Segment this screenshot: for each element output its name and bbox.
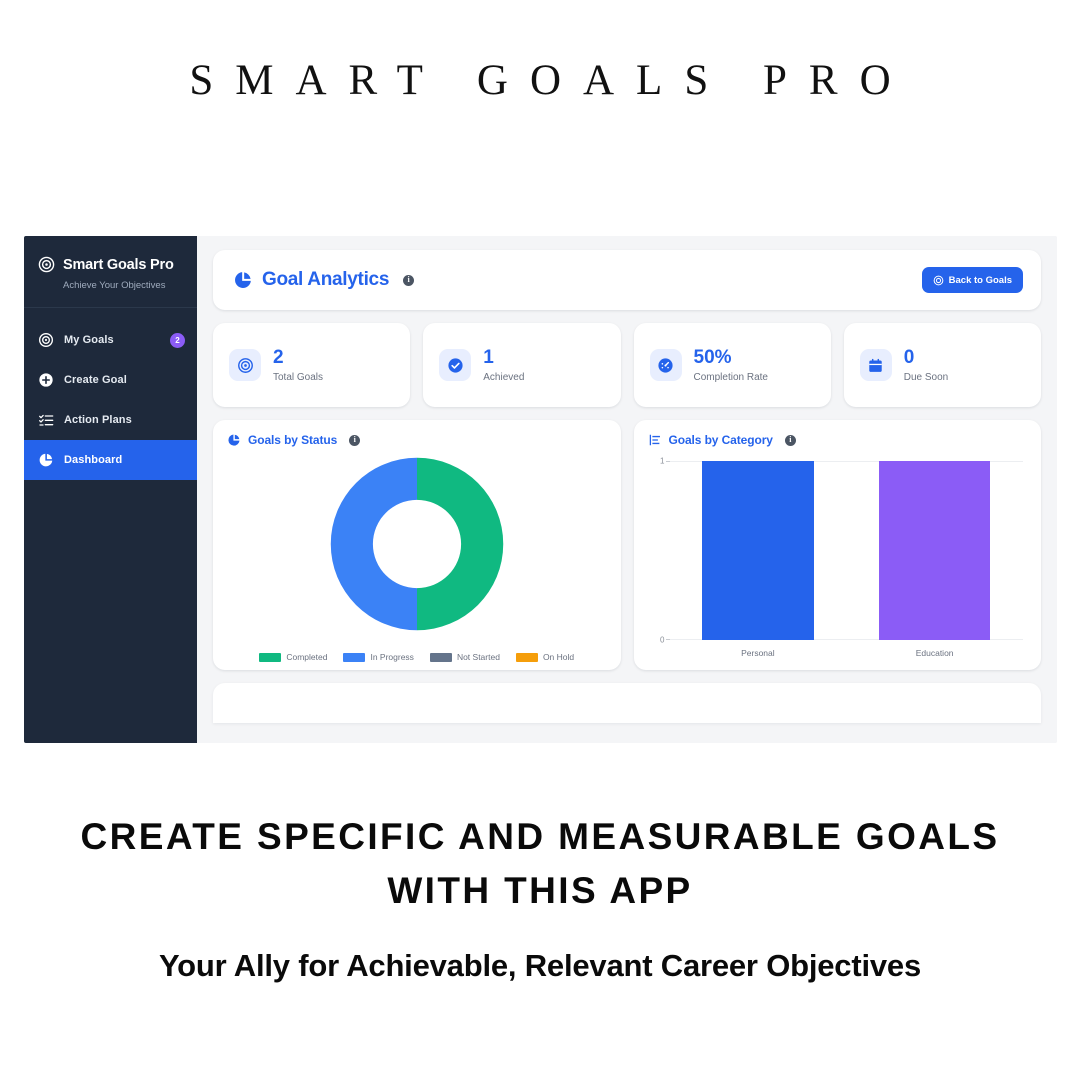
target-icon — [933, 275, 944, 286]
legend-label: Not Started — [457, 652, 500, 662]
donut-wrap — [227, 451, 607, 636]
stat-icon-wrap — [650, 349, 682, 381]
target-icon — [237, 357, 254, 374]
chart-legend: Completed In Progress Not Started — [227, 652, 607, 662]
stat-icon-wrap — [439, 349, 471, 381]
next-card-partial — [213, 683, 1041, 723]
y-tick-label: 1 — [660, 457, 664, 466]
sidebar-header: Smart Goals Pro Achieve Your Objectives — [24, 236, 197, 308]
x-axis-label: Education — [879, 648, 990, 658]
stat-value: 1 — [483, 348, 524, 367]
stat-card-achieved: 1 Achieved — [423, 323, 620, 407]
sidebar-item-label: Create Goal — [64, 374, 127, 386]
sidebar-item-label: Dashboard — [64, 454, 122, 466]
donut-chart[interactable] — [319, 446, 515, 642]
legend-swatch — [259, 653, 281, 662]
analytics-header-card: Goal Analytics i Back to Goals — [213, 250, 1041, 310]
chart-header: Goals by Category i — [648, 433, 1028, 447]
stat-card-completion-rate: 50% Completion Rate — [634, 323, 831, 407]
legend-label: In Progress — [370, 652, 413, 662]
stat-value: 0 — [904, 348, 948, 367]
promo-page: SMART GOALS PRO Smart Goals Pro Achieve … — [0, 0, 1080, 1080]
chart-card-goals-by-category: Goals by Category i 1 0 — [634, 420, 1042, 670]
sidebar-item-create-goal[interactable]: Create Goal — [24, 360, 197, 400]
sidebar-badge-count: 2 — [170, 333, 185, 348]
main-content: Goal Analytics i Back to Goals — [197, 236, 1057, 743]
y-tick-label: 0 — [660, 636, 664, 645]
bars-plot: 1 0 — [670, 461, 1024, 640]
bar-column-education — [879, 461, 990, 640]
sidebar-item-label: My Goals — [64, 334, 114, 346]
stat-value: 50% — [694, 348, 768, 367]
legend-item-not-started[interactable]: Not Started — [430, 652, 500, 662]
promo-subline: Your Ally for Achievable, Relevant Caree… — [90, 945, 990, 987]
legend-swatch — [343, 653, 365, 662]
sidebar-nav: My Goals 2 Create Goal Action Plans — [24, 308, 197, 480]
x-axis-label: Personal — [702, 648, 813, 658]
bar-chart-icon — [648, 433, 662, 447]
charts-row: Goals by Status i — [213, 420, 1041, 670]
app-screenshot: Smart Goals Pro Achieve Your Objectives … — [24, 236, 1057, 743]
target-icon — [38, 256, 55, 273]
stat-label: Achieved — [483, 372, 524, 383]
sidebar: Smart Goals Pro Achieve Your Objectives … — [24, 236, 197, 743]
bar-education[interactable] — [879, 461, 990, 640]
stat-icon-wrap — [860, 349, 892, 381]
info-icon[interactable]: i — [403, 275, 414, 286]
legend-item-completed[interactable]: Completed — [259, 652, 327, 662]
donut-slice-completed[interactable] — [417, 457, 503, 629]
legend-item-on-hold[interactable]: On Hold — [516, 652, 574, 662]
sidebar-brand: Smart Goals Pro — [63, 257, 174, 273]
gauge-icon — [657, 357, 674, 374]
legend-item-in-progress[interactable]: In Progress — [343, 652, 413, 662]
chart-body: 1 0 — [648, 447, 1028, 662]
target-icon — [38, 332, 54, 348]
donut-slice-in-progress[interactable] — [331, 457, 417, 629]
legend-label: Completed — [286, 652, 327, 662]
promo-headline: CREATE SPECIFIC AND MEASURABLE GOALS WIT… — [40, 810, 1040, 917]
legend-swatch — [430, 653, 452, 662]
sidebar-item-action-plans[interactable]: Action Plans — [24, 400, 197, 440]
stat-label: Due Soon — [904, 372, 948, 383]
bars-area: 1 0 — [648, 453, 1028, 662]
page-title: Goal Analytics — [262, 269, 389, 291]
stat-icon-wrap — [229, 349, 261, 381]
legend-swatch — [516, 653, 538, 662]
back-to-goals-label: Back to Goals — [949, 275, 1012, 286]
stat-card-total-goals: 2 Total Goals — [213, 323, 410, 407]
back-to-goals-button[interactable]: Back to Goals — [922, 267, 1023, 293]
check-circle-icon — [447, 357, 464, 374]
plus-circle-icon — [38, 372, 54, 388]
info-icon[interactable]: i — [785, 435, 796, 446]
chart-body: Completed In Progress Not Started — [227, 447, 607, 662]
sidebar-item-dashboard[interactable]: Dashboard — [24, 440, 197, 480]
pie-chart-icon — [233, 270, 253, 290]
sidebar-item-label: Action Plans — [64, 414, 132, 426]
pie-chart-icon — [38, 452, 54, 468]
bar-column-personal — [702, 461, 813, 640]
stat-value: 2 — [273, 348, 323, 367]
sidebar-tagline: Achieve Your Objectives — [63, 280, 181, 291]
stat-label: Completion Rate — [694, 372, 768, 383]
bars-x-labels: Personal Education — [670, 648, 1024, 658]
bars-group — [670, 461, 1024, 640]
stats-row: 2 Total Goals 1 Achieved — [213, 323, 1041, 407]
bar-personal[interactable] — [702, 461, 813, 640]
sidebar-item-my-goals[interactable]: My Goals 2 — [24, 320, 197, 360]
calendar-icon — [867, 357, 884, 374]
checklist-icon — [38, 412, 54, 428]
info-icon[interactable]: i — [349, 435, 360, 446]
legend-label: On Hold — [543, 652, 574, 662]
chart-title: Goals by Category — [669, 433, 773, 447]
chart-card-goals-by-status: Goals by Status i — [213, 420, 621, 670]
stat-card-due-soon: 0 Due Soon — [844, 323, 1041, 407]
brand-wordmark: SMART GOALS PRO — [0, 56, 1080, 105]
pie-chart-icon — [227, 433, 241, 447]
stat-label: Total Goals — [273, 372, 323, 383]
